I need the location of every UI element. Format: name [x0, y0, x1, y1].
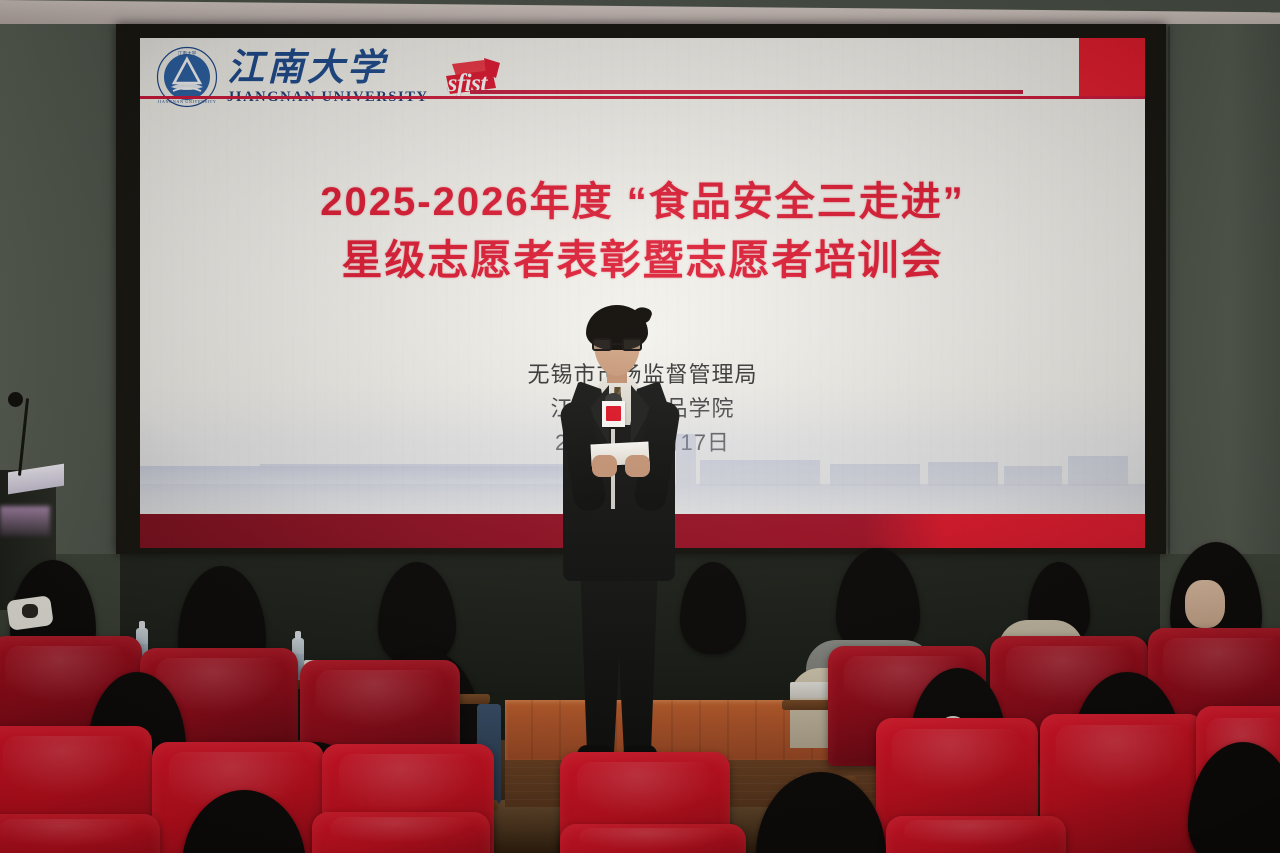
svg-text:江南大学: 江南大学: [178, 50, 197, 57]
gooseneck-microphone-icon: [8, 392, 23, 407]
slide-title-line-2: 星级志愿者表彰暨志愿者培训会: [140, 235, 1145, 285]
lectern-screen-glow: [0, 506, 50, 536]
speaker-legs: [577, 573, 661, 755]
wall-seam: [1168, 26, 1170, 626]
slide-title-block: 2025-2026年度 “食品安全三走进” 星级志愿者表彰暨志愿者培训会: [140, 178, 1145, 285]
auditorium-seat: [0, 814, 160, 853]
auditorium-seat: [560, 824, 746, 853]
auditorium-scene: 江南大学 JIANGNAN UNIVERSITY 江南大学 JIANGNAN U…: [0, 0, 1280, 853]
header-rule: [470, 90, 1023, 94]
face-mask-shadow: [22, 604, 38, 618]
header-red-block: [1079, 38, 1145, 96]
slide-header: 江南大学 JIANGNAN UNIVERSITY 江南大学 JIANGNAN U…: [140, 38, 1145, 118]
microphone-flag-logo-icon: [602, 401, 625, 427]
speaker-hand-right: [625, 455, 650, 477]
speaker-person: [555, 305, 685, 765]
university-name-cn: 江南大学: [227, 50, 429, 87]
header-underline: [140, 96, 1145, 99]
audience-hair-bun: [884, 574, 908, 600]
paper-sheet: [790, 682, 832, 698]
auditorium-seat: [886, 816, 1066, 853]
auditorium-seat: [312, 812, 490, 853]
slide-title-line-1: 2025-2026年度 “食品安全三走进”: [140, 178, 1145, 227]
speaker-hand-left: [592, 455, 617, 477]
svg-text:JIANGNAN UNIVERSITY: JIANGNAN UNIVERSITY: [158, 99, 217, 104]
eyeglasses-icon: [592, 338, 642, 351]
audience-face: [1185, 580, 1225, 628]
